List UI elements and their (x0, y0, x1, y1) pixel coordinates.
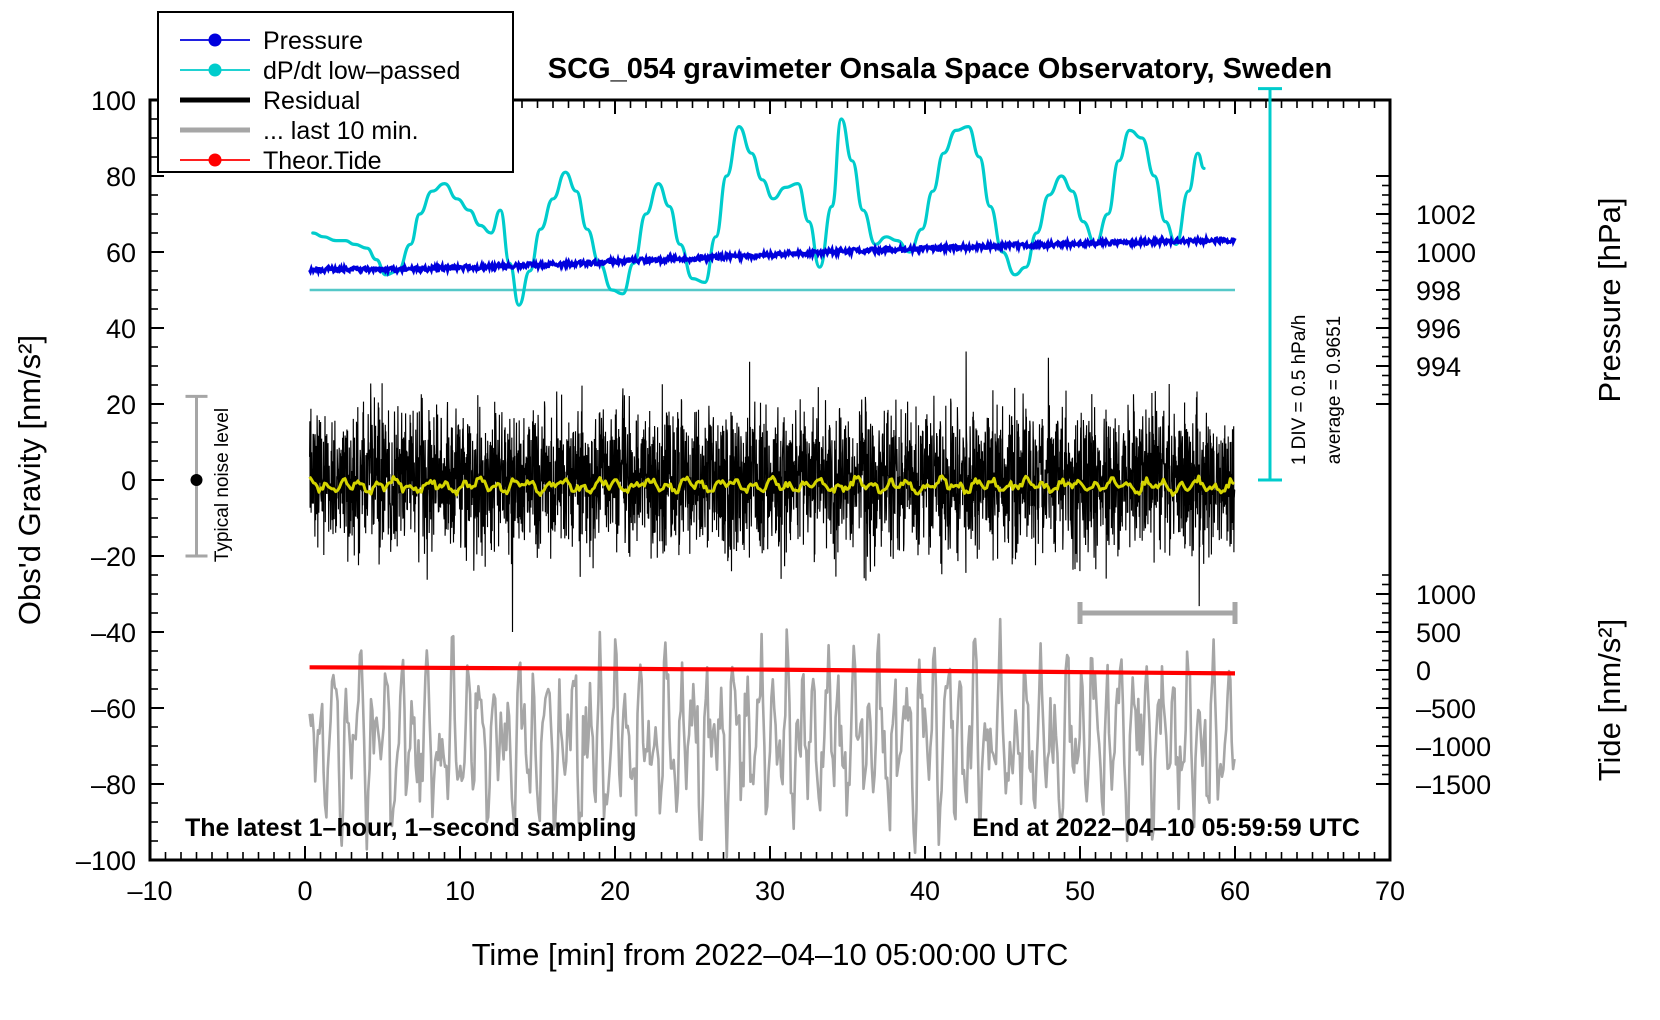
x-tick-label: –10 (127, 876, 172, 906)
x-tick-label: 0 (297, 876, 312, 906)
gravimeter-plot: –10010203040506070 –100–80–60–40–2002040… (0, 0, 1660, 1020)
footer-left-note: The latest 1–hour, 1–second sampling (185, 814, 637, 842)
x-tick-label: 40 (910, 876, 940, 906)
tide-tick-label: –500 (1416, 694, 1476, 724)
tide-tick-label: –1500 (1416, 770, 1491, 800)
pressure-tick-label: 1002 (1416, 200, 1476, 230)
pressure-tick-label: 994 (1416, 352, 1461, 382)
dpdt-scale-note: 1 DIV = 0.5 hPa/h (1289, 315, 1310, 466)
pressure-tick-label: 1000 (1416, 238, 1476, 268)
series-theor-tide (310, 667, 1235, 673)
series-residual (310, 352, 1235, 633)
tide-tick-label: 500 (1416, 618, 1461, 648)
legend-label: Theor.Tide (263, 147, 382, 175)
noise-center-dot (191, 474, 203, 486)
tide-tick-label: 1000 (1416, 580, 1476, 610)
x-tick-label: 20 (600, 876, 630, 906)
y-tick-label: –40 (91, 618, 136, 648)
noise-level-note: Typical noise level (212, 408, 233, 562)
legend-label: Residual (263, 87, 360, 115)
chart-canvas: –10010203040506070 –100–80–60–40–2002040… (0, 0, 1660, 1020)
x-tick-label: 10 (445, 876, 475, 906)
legend-marker (209, 64, 222, 77)
tide-tick-label: 0 (1416, 656, 1431, 686)
series-layer (310, 119, 1235, 857)
pressure-axis-title: Pressure [hPa] (1592, 197, 1627, 402)
y-tick-label: –100 (76, 846, 136, 876)
series-pressure (310, 238, 1235, 272)
legend-label: ... last 10 min. (263, 117, 419, 145)
pressure-tick-label: 996 (1416, 314, 1461, 344)
y-tick-label: 20 (106, 390, 136, 420)
page-title: SCG_054 gravimeter Onsala Space Observat… (548, 53, 1332, 85)
tide-axis-ticks: –1500–1000–50005001000 (1376, 575, 1491, 800)
x-tick-label: 60 (1220, 876, 1250, 906)
y-tick-label: 40 (106, 314, 136, 344)
pressure-tick-label: 998 (1416, 276, 1461, 306)
legend-label: Pressure (263, 27, 363, 55)
legend: PressuredP/dt low–passedResidual... last… (158, 12, 513, 175)
x-tick-label: 50 (1065, 876, 1095, 906)
y-tick-label: 60 (106, 238, 136, 268)
y-tick-label: –80 (91, 770, 136, 800)
tide-axis-title: Tide [nm/s²] (1592, 619, 1627, 782)
x-axis-title: Time [min] from 2022–04–10 05:00:00 UTC (472, 937, 1069, 972)
y-tick-label: 80 (106, 162, 136, 192)
y-tick-label: 100 (91, 86, 136, 116)
x-tick-label: 30 (755, 876, 785, 906)
y-tick-label: 0 (121, 466, 136, 496)
legend-marker (209, 154, 222, 167)
dpdt-average-note: average = 0.9651 (1324, 316, 1345, 464)
tide-tick-label: –1000 (1416, 732, 1491, 762)
y-axis-title: Obs'd Gravity [nm/s²] (12, 335, 47, 625)
x-tick-label: 70 (1375, 876, 1405, 906)
y-tick-label: –60 (91, 694, 136, 724)
footer-right-note: End at 2022–04–10 05:59:59 UTC (972, 814, 1360, 842)
legend-label: dP/dt low–passed (263, 57, 460, 85)
y-tick-label: –20 (91, 542, 136, 572)
legend-marker (209, 34, 222, 47)
